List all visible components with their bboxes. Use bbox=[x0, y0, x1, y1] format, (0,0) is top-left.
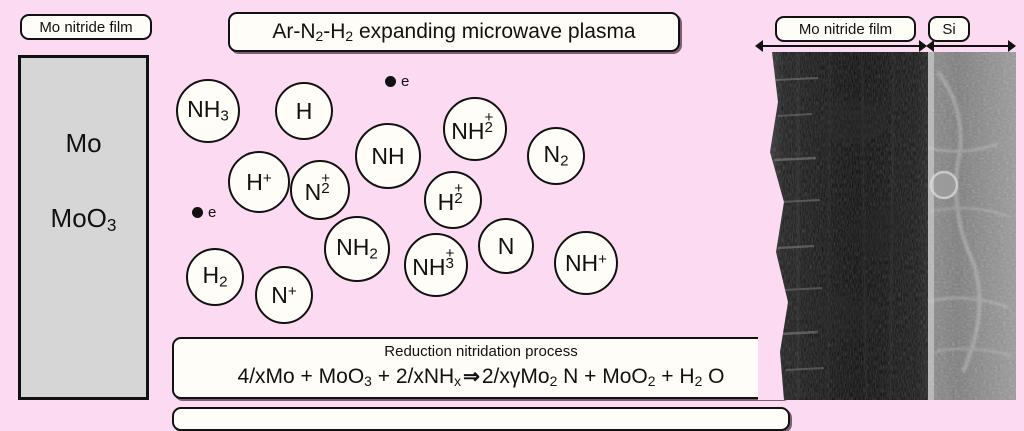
species-formula: N bbox=[498, 235, 515, 258]
species-formula: NH+3 bbox=[412, 252, 459, 279]
tem-micrograph bbox=[758, 52, 1016, 400]
plasma-title-box: Ar-N2-H2 expanding microwave plasma bbox=[228, 12, 680, 52]
equation-term: γ bbox=[510, 365, 521, 388]
label-si: Si bbox=[928, 16, 970, 42]
species-formula: NH3 bbox=[187, 98, 229, 124]
species-bubble-nh2: NH2 bbox=[324, 216, 390, 282]
substrate-block: Mo MoO3 bbox=[18, 55, 149, 400]
species-bubble-nh3p: NH+3 bbox=[404, 233, 468, 297]
label-text: Si bbox=[942, 21, 955, 38]
species-bubble-np: N+ bbox=[255, 266, 313, 324]
species-bubble-n2p: N+2 bbox=[290, 160, 350, 220]
electron-marker-e2: e bbox=[192, 204, 216, 221]
reaction-box: Reduction nitridation process 4/xMo + Mo… bbox=[172, 337, 790, 399]
electron-dot-icon bbox=[192, 207, 203, 218]
species-formula: H bbox=[296, 100, 313, 123]
arrow-head-right-icon bbox=[1008, 40, 1016, 52]
species-bubble-h2: H2 bbox=[186, 248, 244, 306]
species-bubble-hp: H+ bbox=[228, 151, 290, 213]
species-bubble-nhp: NH+ bbox=[554, 231, 618, 295]
electron-label: e bbox=[208, 204, 216, 221]
label-mo-nitride-film-right: Mo nitride film bbox=[775, 16, 916, 42]
species-formula: NH bbox=[371, 145, 404, 168]
plasma-title-text: Ar-N2-H2 expanding microwave plasma bbox=[272, 20, 635, 44]
equation-term: + 2/xNH bbox=[372, 365, 454, 388]
species-bubble-h: H bbox=[275, 82, 333, 140]
figure-canvas: Mo nitride film Ar-N2-H2 expanding micro… bbox=[0, 0, 1024, 416]
film-width-arrow-icon bbox=[755, 40, 927, 52]
label-text: Mo nitride film bbox=[39, 19, 132, 36]
equation-term: O bbox=[702, 365, 724, 388]
species-formula: NH2 bbox=[336, 236, 378, 262]
species-bubble-n: N bbox=[478, 218, 534, 274]
species-formula: NH+2 bbox=[451, 116, 498, 143]
species-formula: H2 bbox=[202, 264, 227, 290]
equation-term: + H bbox=[655, 365, 694, 388]
reaction-equation: 4/xMo + MoO3 + 2/xNHx⇒2/xγMo2 N + MoO2 +… bbox=[174, 364, 788, 389]
species-bubble-nh: NH bbox=[355, 123, 421, 189]
electron-dot-icon bbox=[385, 76, 396, 87]
tem-image-svg bbox=[758, 52, 1016, 400]
species-formula: N2 bbox=[543, 143, 568, 169]
species-formula: N+2 bbox=[305, 177, 336, 204]
equation-term: N + MoO bbox=[557, 365, 647, 388]
electron-marker-e1: e bbox=[385, 73, 409, 90]
reaction-arrow-icon: ⇒ bbox=[461, 366, 482, 388]
species-bubble-h2p: H+2 bbox=[424, 171, 482, 229]
species-formula: N+ bbox=[271, 284, 297, 307]
electron-label: e bbox=[401, 73, 409, 90]
equation-term: 4/xMo + MoO bbox=[238, 365, 365, 388]
label-mo-nitride-film-left: Mo nitride film bbox=[20, 14, 152, 40]
species-formula: H+ bbox=[246, 171, 272, 194]
species-formula: NH+ bbox=[565, 252, 607, 275]
arrow-line bbox=[761, 45, 921, 47]
species-bubble-n2: N2 bbox=[527, 127, 585, 185]
equation-term: Mo bbox=[520, 365, 549, 388]
si-width-arrow-icon bbox=[926, 40, 1016, 52]
reaction-title: Reduction nitridation process bbox=[174, 343, 788, 360]
species-bubble-nh2p: NH+2 bbox=[443, 97, 507, 161]
label-text: Mo nitride film bbox=[799, 21, 892, 38]
clipped-bottom-box bbox=[172, 407, 790, 431]
equation-term: 2/x bbox=[482, 365, 510, 388]
substrate-layer-moo3: MoO3 bbox=[21, 203, 146, 236]
species-formula: H+2 bbox=[438, 187, 469, 214]
substrate-layer-mo: Mo bbox=[21, 128, 146, 159]
arrow-line bbox=[932, 45, 1010, 47]
species-bubble-nh3: NH3 bbox=[176, 79, 240, 143]
equation-term: 3 bbox=[364, 373, 372, 389]
